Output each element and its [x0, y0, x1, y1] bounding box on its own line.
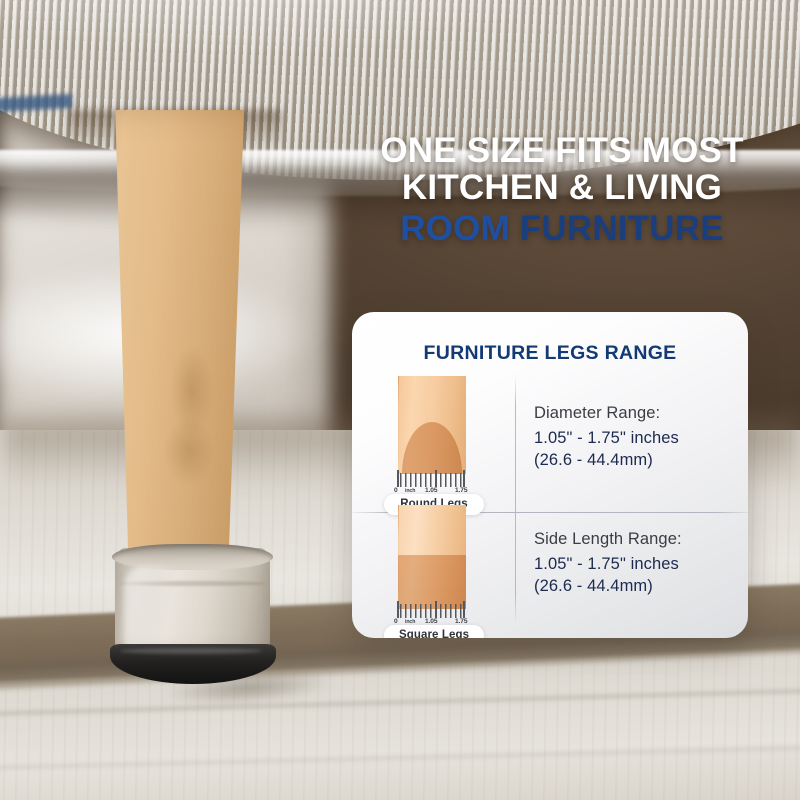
- wood-knot-secondary: [152, 401, 226, 501]
- ruler-tick-start: [397, 601, 399, 618]
- ruler-label-start: 0: [394, 487, 398, 494]
- round-leg-figure: 0 inch 1.05 1.75 Round Legs: [352, 376, 515, 512]
- round-leg-sample: [398, 376, 466, 474]
- cap-base-highlight: [120, 648, 262, 654]
- card-title: FURNITURE LEGS RANGE: [352, 342, 748, 365]
- ruler-tick-start: [397, 470, 399, 487]
- ruler-label-start: 0: [394, 618, 398, 625]
- square-leg-ruler: 0 inch 1.05 1.75: [394, 601, 474, 627]
- round-leg-ruler: 0 inch 1.05 1.75: [394, 470, 474, 496]
- diameter-range-info: Diameter Range: 1.05" - 1.75" inches (26…: [534, 404, 734, 472]
- furniture-legs-range-card: FURNITURE LEGS RANGE 0 inch 1.05 1.75 Ro…: [352, 312, 748, 638]
- diameter-range-label: Diameter Range:: [534, 404, 734, 423]
- cap-top-lip: [112, 544, 273, 570]
- square-leg-sample: [398, 505, 466, 609]
- headline-line-3-room: ROOM: [400, 209, 520, 248]
- diameter-range-inches: 1.05" - 1.75" inches: [534, 428, 734, 450]
- ruler-minor-ticks: [400, 473, 462, 487]
- ruler-tick-end: [463, 470, 465, 487]
- ruler-minor-ticks: [400, 604, 462, 618]
- ruler-label-end: 1.75: [455, 487, 467, 494]
- side-length-range-mm: (26.6 - 44.4mm): [534, 576, 734, 598]
- side-length-range-label: Side Length Range:: [534, 530, 734, 549]
- diameter-range-mm: (26.6 - 44.4mm): [534, 450, 734, 472]
- ruler-label-mid: 1.05: [425, 618, 437, 625]
- headline-line-1: ONE SIZE FITS MOST: [352, 132, 772, 169]
- headline-line-3-furniture: FURNITURE: [520, 209, 724, 248]
- ruler-label-end: 1.75: [455, 618, 467, 625]
- square-legs-pill-label: Square Legs: [384, 625, 484, 638]
- headline-line-2: KITCHEN & LIVING: [352, 169, 772, 206]
- side-length-range-info: Side Length Range: 1.05" - 1.75" inches …: [534, 530, 734, 598]
- vertical-divider: [515, 376, 516, 624]
- square-leg-figure: 0 inch 1.05 1.75 Square Legs: [352, 513, 515, 624]
- product-marketing-image: ONE SIZE FITS MOST KITCHEN & LIVING ROOM…: [0, 0, 800, 800]
- headline: ONE SIZE FITS MOST KITCHEN & LIVING ROOM…: [352, 132, 772, 247]
- side-length-range-inches: 1.05" - 1.75" inches: [534, 554, 734, 576]
- headline-line-3: ROOM FURNITURE: [352, 210, 772, 247]
- ruler-label-mid: 1.05: [425, 487, 437, 494]
- ruler-tick-end: [463, 601, 465, 618]
